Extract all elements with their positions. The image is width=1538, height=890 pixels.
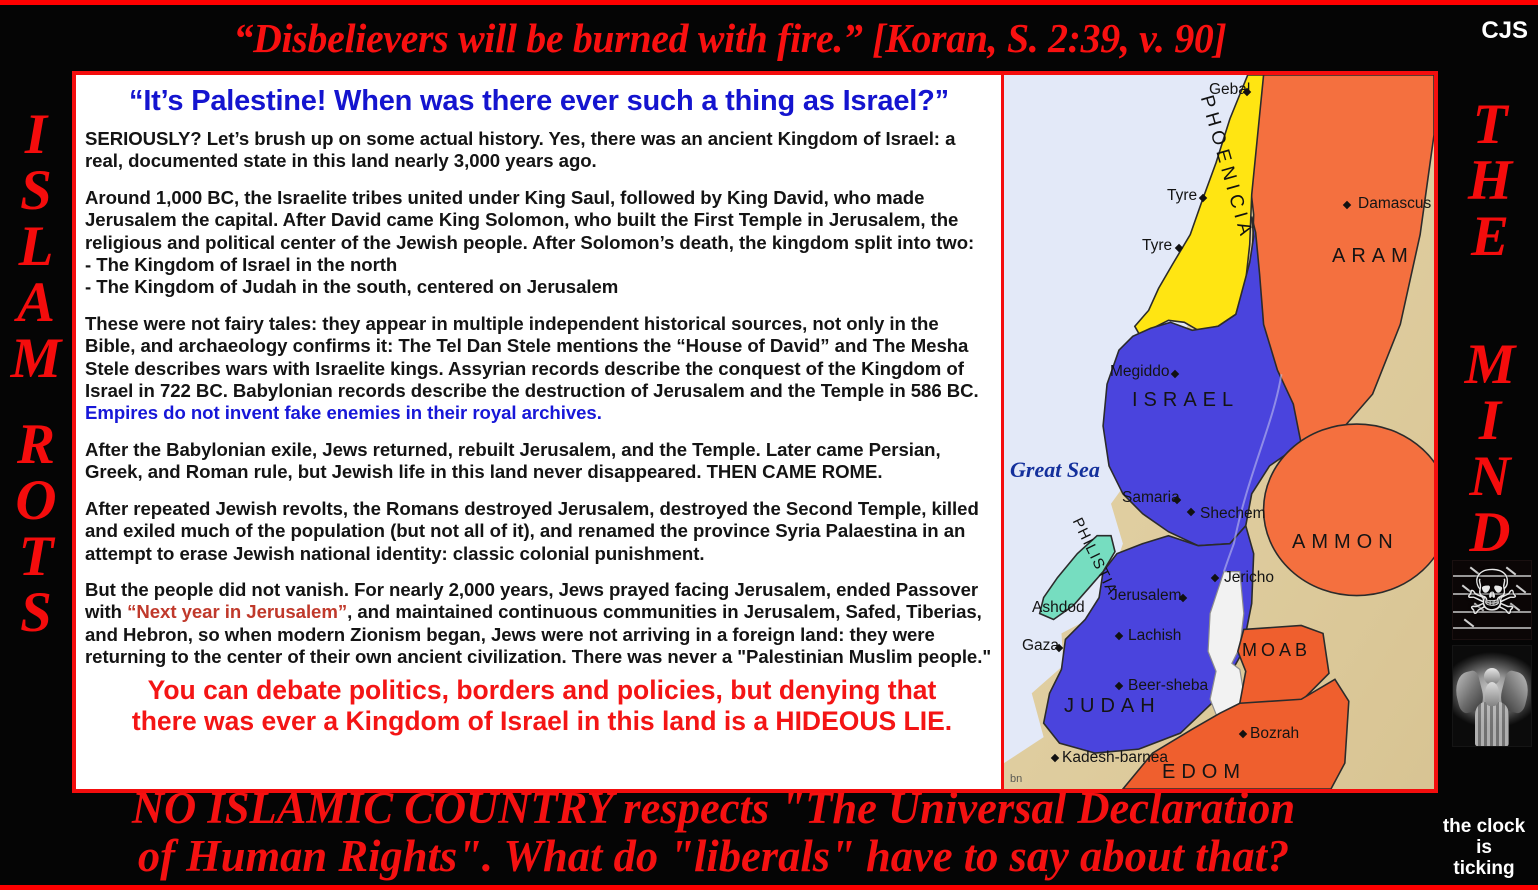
- paragraph-1: SERIOUSLY? Let’s brush up on some actual…: [85, 128, 993, 173]
- region-label-edom: EDOM: [1162, 761, 1246, 784]
- content-panel: “It’s Palestine! When was there ever suc…: [72, 71, 1438, 793]
- bullet-item-2: - The Kingdom of Judah in the south, cen…: [85, 276, 993, 298]
- paragraph-5: After repeated Jewish revolts, the Roman…: [85, 498, 993, 565]
- page-title: “It’s Palestine! When was there ever suc…: [85, 84, 993, 118]
- bottom-banner-line-2: of Human Rights". What do "liberals" hav…: [138, 832, 1289, 880]
- city-label-damascus: Damascus: [1358, 195, 1431, 213]
- vletter: S: [0, 585, 72, 641]
- poster-root: “Disbelievers will be burned with fire.”…: [0, 0, 1538, 890]
- top-quote-text: “Disbelievers will be burned with fire.”…: [22, 9, 1438, 67]
- vletter: S: [0, 163, 72, 219]
- vletter: T: [0, 529, 72, 585]
- vletter: E: [1442, 209, 1538, 265]
- vletter: D: [1442, 505, 1538, 561]
- clock-line-1: the clock: [1432, 816, 1536, 837]
- vletter: T: [1442, 97, 1538, 153]
- region-ammon: [1264, 424, 1434, 596]
- vletter: A: [0, 275, 72, 331]
- city-label-jerusalem: Jerusalem: [1110, 587, 1182, 605]
- paragraph-3-main: These were not fairy tales: they appear …: [85, 313, 979, 401]
- cjs-watermark: CJS: [1481, 17, 1528, 45]
- right-vertical-word-2: M I N D: [1442, 337, 1538, 561]
- map-of-ancient-israel: ARAM ISRAEL AMMON JUDAH MOAB EDOM PHOENI…: [1004, 75, 1434, 789]
- sea-label-great-sea: Great Sea: [1010, 457, 1100, 483]
- vletter: L: [0, 219, 72, 275]
- article-text-column: “It’s Palestine! When was there ever suc…: [76, 75, 1001, 789]
- city-label-beer-sheba: Beer-sheba: [1128, 677, 1208, 695]
- region-label-judah: JUDAH: [1064, 695, 1161, 718]
- clock-line-2: is: [1432, 837, 1536, 858]
- clock-line-3: ticking: [1432, 858, 1536, 879]
- praying-angel-statue-icon: [1452, 645, 1532, 747]
- paragraph-3-blue-emphasis: Empires do not invent fake enemies in th…: [85, 402, 602, 423]
- closing-statement: You can debate politics, borders and pol…: [107, 675, 977, 737]
- skull-glyph: ☠: [1453, 560, 1531, 633]
- historical-map-column: ARAM ISRAEL AMMON JUDAH MOAB EDOM PHOENI…: [1001, 75, 1434, 789]
- paragraph-4: After the Babylonian exile, Jews returne…: [85, 439, 993, 484]
- vletter: I: [1442, 393, 1538, 449]
- article-body: SERIOUSLY? Let’s brush up on some actual…: [85, 128, 993, 737]
- region-label-ammon: AMMON: [1292, 531, 1399, 554]
- city-label-kadesh-barnea: Kadesh-barnea: [1062, 749, 1168, 767]
- vletter: I: [0, 107, 72, 163]
- clock-ticking-text: the clock is ticking: [1432, 816, 1536, 879]
- city-label-jericho: Jericho: [1224, 569, 1274, 587]
- left-vertical-bar: I S L A M R O T S: [0, 67, 72, 797]
- city-label-samaria: Samaria: [1122, 489, 1180, 507]
- vletter: R: [0, 417, 72, 473]
- left-vertical-word-2: R O T S: [0, 417, 72, 641]
- skull-and-crossbones-icon: ☠: [1452, 560, 1532, 640]
- paragraph-6-red-quote: “Next year in Jerusalem”: [127, 601, 347, 622]
- closing-statement-line-2: there was ever a Kingdom of Israel in th…: [107, 706, 977, 737]
- bullet-item-1: - The Kingdom of Israel in the north: [85, 254, 993, 276]
- vletter: H: [1442, 153, 1538, 209]
- paragraph-3: These were not fairy tales: they appear …: [85, 313, 993, 425]
- angel-hands: [1485, 682, 1499, 706]
- region-label-moab: MOAB: [1242, 640, 1311, 661]
- city-label-megiddo: Megiddo: [1110, 363, 1169, 381]
- map-corner-code: bn: [1010, 773, 1022, 785]
- vletter: N: [1442, 449, 1538, 505]
- angel-robe: [1475, 702, 1509, 746]
- city-label-shechem: Shechem: [1200, 505, 1265, 523]
- left-vertical-word-1: I S L A M: [0, 107, 72, 387]
- city-label-tyre-south: Tyre: [1142, 237, 1172, 255]
- region-label-aram: ARAM: [1332, 245, 1414, 268]
- top-banner: “Disbelievers will be burned with fire.”…: [0, 9, 1538, 67]
- vletter: M: [0, 331, 72, 387]
- vletter: M: [1442, 337, 1538, 393]
- city-label-tyre-north: Tyre: [1167, 187, 1197, 205]
- bottom-banner: NO ISLAMIC COUNTRY respects "The Univers…: [0, 784, 1428, 880]
- city-label-lachish: Lachish: [1128, 627, 1181, 645]
- paragraph-6: But the people did not vanish. For nearl…: [85, 579, 993, 669]
- city-label-gaza: Gaza: [1022, 637, 1059, 655]
- vletter: O: [0, 473, 72, 529]
- city-label-bozrah: Bozrah: [1250, 725, 1299, 743]
- right-vertical-word-1: T H E: [1442, 97, 1538, 265]
- closing-statement-line-1: You can debate politics, borders and pol…: [107, 675, 977, 706]
- city-label-ashdod: Ashdod: [1032, 599, 1085, 617]
- paragraph-2: Around 1,000 BC, the Israelite tribes un…: [85, 187, 993, 254]
- region-label-israel: ISRAEL: [1132, 389, 1239, 412]
